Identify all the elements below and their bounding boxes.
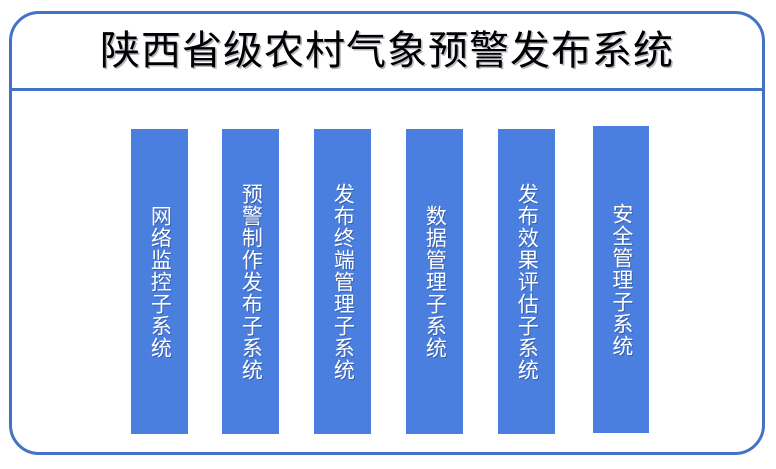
subsystem-label: 发布终端管理子系统: [329, 183, 357, 381]
subsystem-column-group: 网络监控子系统预警制作发布子系统发布终端管理子系统数据管理子系统发布效果评估子系…: [0, 0, 776, 469]
subsystem-label: 预警制作发布子系统: [237, 183, 265, 381]
subsystem-label: 网络监控子系统: [146, 205, 174, 359]
subsystem-block[interactable]: 网络监控子系统: [131, 129, 188, 434]
subsystem-block[interactable]: 发布终端管理子系统: [314, 129, 371, 434]
subsystem-label: 数据管理子系统: [421, 205, 449, 359]
subsystem-block[interactable]: 安全管理子系统: [593, 126, 649, 433]
subsystem-block[interactable]: 发布效果评估子系统: [498, 129, 555, 434]
diagram-canvas: 陕西省级农村气象预警发布系统 网络监控子系统预警制作发布子系统发布终端管理子系统…: [0, 0, 776, 469]
subsystem-label: 安全管理子系统: [607, 203, 635, 357]
subsystem-block[interactable]: 数据管理子系统: [406, 129, 463, 434]
subsystem-label: 发布效果评估子系统: [513, 183, 541, 381]
subsystem-block[interactable]: 预警制作发布子系统: [222, 129, 279, 434]
